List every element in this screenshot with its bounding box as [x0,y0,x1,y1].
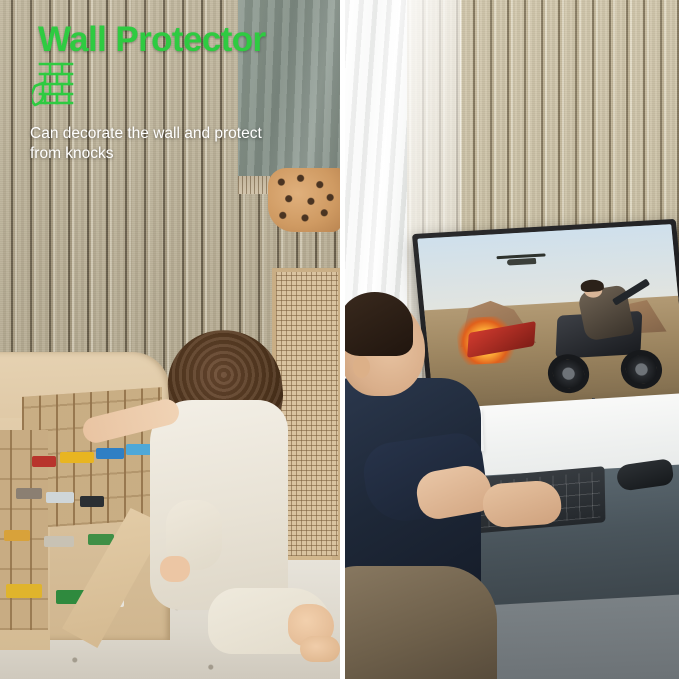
feature-graphic-board: Wall Protector [0,0,679,679]
toy-car [32,456,56,467]
game-motorcycle [536,293,667,396]
motorcycle-wheel-rear [619,349,664,390]
man-ear [353,356,370,378]
toy-car [44,536,74,547]
man-hand-right [482,479,563,528]
toy-car [96,448,124,459]
toy-car [60,452,94,463]
shield-brick-wall-icon [32,60,74,108]
man-lap [345,566,497,679]
panel-divider [340,0,345,679]
child-hand-holding-toy [160,556,190,582]
game-rider-hair [580,279,604,293]
toy-car [46,492,74,503]
subtext-wall-protector: Can decorate the wall and protect from k… [30,124,280,164]
panel-wall-protector: Wall Protector [0,0,340,679]
toy-car [80,496,104,507]
motorcycle-wheel-front [546,353,591,394]
headline-wall-protector: Wall Protector [38,22,266,57]
leopard-print-throw [268,168,340,232]
toy-car [126,444,152,455]
toy-car [88,534,114,545]
panel-sound-absorbing: Sound Absorbing Help reduce background n… [345,0,679,679]
child-foot-second [300,636,340,662]
toy-car [16,488,42,499]
game-helicopter [495,246,548,272]
toy-car [4,530,30,541]
toy-car [6,584,42,598]
